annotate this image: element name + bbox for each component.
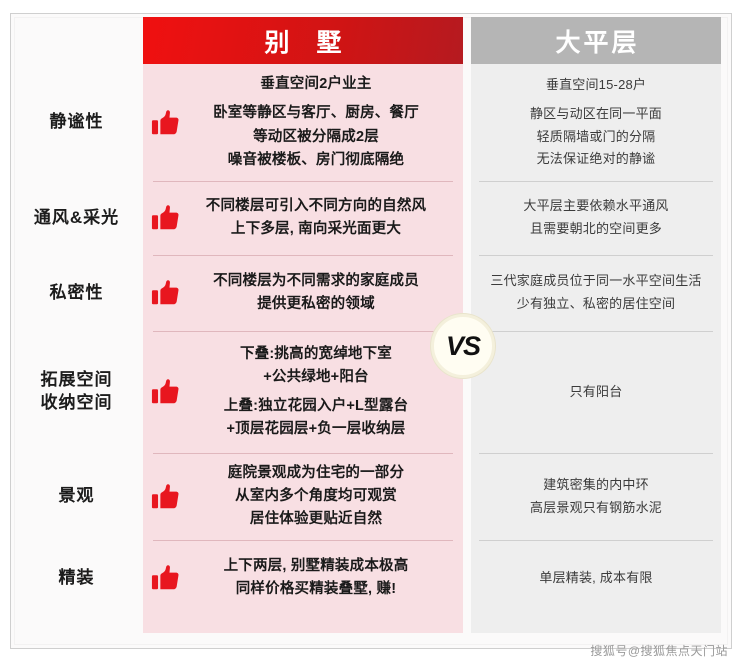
villa-paragraph: 庭院景观成为住宅的一部分从室内多个角度均可观赏居住体验更贴近自然 xyxy=(228,462,404,532)
rows-container: 静谧性垂直空间2户业主卧室等静区与客厅、厨房、餐厅等动区被分隔成2层噪音被楼板、… xyxy=(10,64,722,616)
flat-paragraph: 只有阳台 xyxy=(570,381,623,404)
villa-column-header: 别 墅 xyxy=(143,17,463,64)
row-label: 精装 xyxy=(10,540,143,616)
villa-paragraph: 不同楼层可引入不同方向的自然风上下多层, 南向采光面更大 xyxy=(206,195,427,241)
watermark: 搜狐号@搜狐焦点天门站 xyxy=(590,642,728,659)
flat-paragraph: 单层精装, 成本有限 xyxy=(539,567,652,590)
flat-paragraph: 大平层主要依赖水平通风且需要朝北的空间更多 xyxy=(523,195,668,241)
flat-cell: 大平层主要依赖水平通风且需要朝北的空间更多 xyxy=(471,181,721,255)
flat-cell: 垂直空间15-28户静区与动区在同一平面轻质隔墙或门的分隔无法保证绝对的静谧 xyxy=(471,64,721,181)
flat-paragraph: 三代家庭成员位于同一水平空间生活少有独立、私密的居住空间 xyxy=(490,270,701,316)
row-label: 拓展空间收纳空间 xyxy=(10,331,143,453)
flat-cell: 单层精装, 成本有限 xyxy=(471,540,721,616)
flat-cell: 只有阳台 xyxy=(471,331,721,453)
villa-paragraph: 不同楼层为不同需求的家庭成员提供更私密的领域 xyxy=(213,270,419,316)
thumbs-up-icon xyxy=(151,482,181,512)
villa-paragraph: 垂直空间2户业主 xyxy=(260,73,371,96)
table-row: 景观庭院景观成为住宅的一部分从室内多个角度均可观赏居住体验更贴近自然建筑密集的内… xyxy=(10,453,722,540)
table-row: 静谧性垂直空间2户业主卧室等静区与客厅、厨房、餐厅等动区被分隔成2层噪音被楼板、… xyxy=(10,64,722,181)
thumbs-up-icon xyxy=(151,563,181,593)
flat-column-header: 大平层 xyxy=(471,17,721,64)
flat-cell: 三代家庭成员位于同一水平空间生活少有独立、私密的居住空间 xyxy=(471,255,721,331)
villa-paragraph: 下叠:挑高的宽绰地下室+公共绿地+阳台 xyxy=(240,343,392,389)
villa-paragraph: 上叠:独立花园入户+L型露台+顶层花园层+负一层收纳层 xyxy=(224,395,408,441)
row-label: 私密性 xyxy=(10,255,143,331)
flat-paragraph: 建筑密集的内中环高层景观只有钢筋水泥 xyxy=(530,474,662,520)
thumbs-up-icon xyxy=(151,278,181,308)
flat-paragraph: 静区与动区在同一平面轻质隔墙或门的分隔无法保证绝对的静谧 xyxy=(530,103,662,171)
table-row: 拓展空间收纳空间下叠:挑高的宽绰地下室+公共绿地+阳台上叠:独立花园入户+L型露… xyxy=(10,331,722,453)
villa-cell: 庭院景观成为住宅的一部分从室内多个角度均可观赏居住体验更贴近自然 xyxy=(143,453,463,540)
villa-cell: 下叠:挑高的宽绰地下室+公共绿地+阳台上叠:独立花园入户+L型露台+顶层花园层+… xyxy=(143,331,463,453)
column-gap xyxy=(463,540,471,616)
column-gap xyxy=(463,64,471,181)
row-label: 静谧性 xyxy=(10,64,143,181)
comparison-infographic: 别 墅 大平层 静谧性垂直空间2户业主卧室等静区与客厅、厨房、餐厅等动区被分隔成… xyxy=(0,0,740,661)
row-label: 景观 xyxy=(10,453,143,540)
villa-cell: 上下两层, 别墅精装成本极高同样价格买精装叠墅, 赚! xyxy=(143,540,463,616)
thumbs-up-icon xyxy=(151,108,181,138)
villa-cell: 不同楼层为不同需求的家庭成员提供更私密的领域 xyxy=(143,255,463,331)
vs-badge: VS xyxy=(431,314,495,378)
villa-cell: 不同楼层可引入不同方向的自然风上下多层, 南向采光面更大 xyxy=(143,181,463,255)
table-row: 通风&采光不同楼层可引入不同方向的自然风上下多层, 南向采光面更大大平层主要依赖… xyxy=(10,181,722,255)
column-gap xyxy=(463,181,471,255)
flat-cell: 建筑密集的内中环高层景观只有钢筋水泥 xyxy=(471,453,721,540)
villa-paragraph: 上下两层, 别墅精装成本极高同样价格买精装叠墅, 赚! xyxy=(224,555,409,601)
column-gap xyxy=(463,453,471,540)
table-row: 私密性不同楼层为不同需求的家庭成员提供更私密的领域三代家庭成员位于同一水平空间生… xyxy=(10,255,722,331)
villa-paragraph: 卧室等静区与客厅、厨房、餐厅等动区被分隔成2层噪音被楼板、房门彻底隔绝 xyxy=(213,102,419,172)
flat-paragraph: 垂直空间15-28户 xyxy=(546,74,646,97)
thumbs-up-icon xyxy=(151,203,181,233)
thumbs-up-icon xyxy=(151,377,181,407)
row-label: 通风&采光 xyxy=(10,181,143,255)
villa-cell: 垂直空间2户业主卧室等静区与客厅、厨房、餐厅等动区被分隔成2层噪音被楼板、房门彻… xyxy=(143,64,463,181)
table-row: 精装上下两层, 别墅精装成本极高同样价格买精装叠墅, 赚!单层精装, 成本有限 xyxy=(10,540,722,616)
